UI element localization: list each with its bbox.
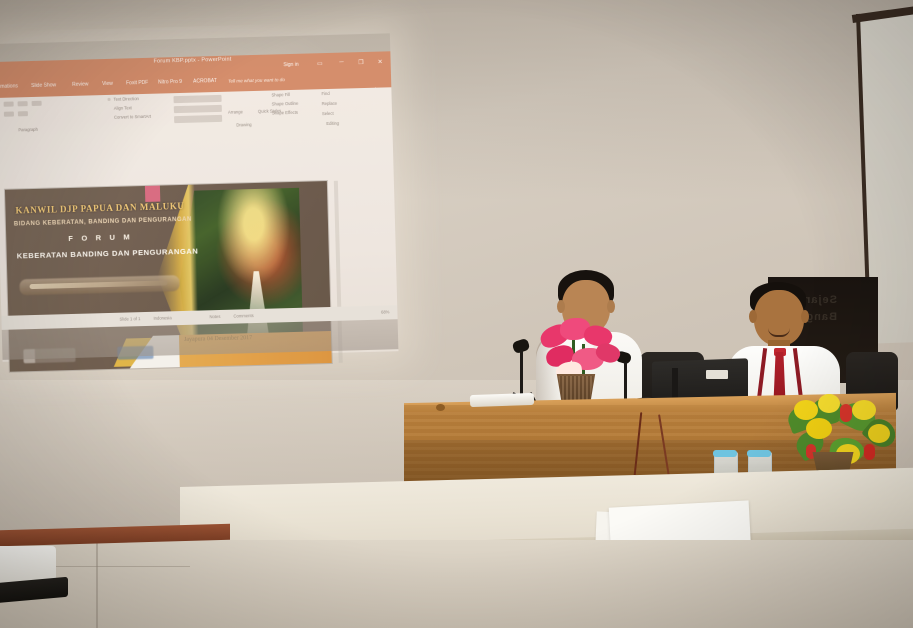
yellow-flower-4: [852, 400, 876, 420]
tab-animations[interactable]: Animations: [0, 83, 18, 90]
slide-forum-word: F O R U M: [68, 232, 133, 243]
tab-nitro-pro[interactable]: Nitro Pro 9: [158, 79, 182, 86]
ribbon-group-editing: Editing: [326, 121, 339, 126]
ribbon-btn-find[interactable]: Find: [321, 91, 329, 96]
shape-gallery-row-2[interactable]: [174, 105, 222, 113]
status-language[interactable]: Indonesia: [153, 315, 171, 320]
ribbon-btn-arrange[interactable]: Arrange: [228, 109, 243, 114]
head-table-knob: [436, 404, 445, 411]
ribbon-display-options-icon[interactable]: ▭: [317, 60, 323, 67]
projected-powerpoint-window: Forum KBP.pptx - PowerPoint Sign in ▭ ─ …: [0, 33, 398, 362]
panelist-ear-right: [801, 310, 809, 323]
yellow-flower-3: [806, 418, 832, 439]
shape-gallery-row-1[interactable]: [173, 95, 221, 103]
tab-foxit-pdf[interactable]: Foxit PDF: [126, 80, 148, 87]
tab-acrobat[interactable]: ACROBAT: [193, 78, 217, 85]
red-bud-1: [840, 404, 852, 422]
laptop-sticker: [706, 370, 728, 379]
panelist-head: [754, 290, 804, 346]
ribbon-btn-replace[interactable]: Replace: [322, 101, 338, 106]
yellow-flower-2: [818, 394, 840, 413]
panelist-ear-left: [749, 310, 757, 323]
sign-in-button[interactable]: Sign in: [283, 62, 298, 68]
status-zoom-level[interactable]: 68%: [381, 309, 390, 314]
speaker-ear-right: [607, 300, 615, 313]
ribbon-btn-shape-outline[interactable]: Shape Outline: [272, 101, 299, 107]
ribbon-btn-text-direction[interactable]: Text Direction: [113, 96, 139, 102]
ribbon-btn-shape-fill[interactable]: Shape Fill: [271, 92, 290, 98]
restore-button[interactable]: ❐: [358, 59, 364, 66]
tab-view[interactable]: View: [102, 81, 113, 87]
ribbon-btn-convert-smartart[interactable]: Convert to SmartArt: [114, 114, 151, 120]
ribbon-btn-line-spacing[interactable]: [4, 111, 14, 116]
ribbon-icon-text-direction[interactable]: [108, 98, 111, 101]
yellow-flower-5: [868, 424, 890, 443]
tiled-floor: [0, 540, 913, 628]
tab-review[interactable]: Review: [72, 81, 89, 87]
floor-tile-line-2: [96, 540, 98, 628]
red-bud-2: [864, 444, 875, 460]
pink-accent-tab: [145, 186, 160, 202]
water-glass-2-lid: [747, 450, 771, 457]
status-notes[interactable]: Notes: [209, 314, 220, 319]
ribbon-btn-align[interactable]: [18, 111, 28, 116]
close-button[interactable]: ✕: [378, 58, 383, 65]
shape-gallery-row-3[interactable]: [174, 115, 222, 123]
ribbon-btn-numbering[interactable]: [18, 101, 28, 106]
speaker-ear-left: [557, 300, 565, 313]
ribbon-btn-select[interactable]: Select: [322, 111, 334, 116]
water-glass-1-lid: [713, 450, 737, 457]
ribbon-group-drawing: Drawing: [236, 122, 252, 127]
ribbon-btn-bullets[interactable]: [4, 101, 14, 106]
rolled-paper: [470, 393, 534, 407]
tab-slide-show[interactable]: Slide Show: [31, 82, 56, 89]
conference-room-photo: SejarahBangun Forum KBP.pptx - PowerPoin…: [0, 0, 913, 628]
minimize-button[interactable]: ─: [339, 60, 343, 66]
ribbon-btn-align-text[interactable]: Align Text: [114, 105, 132, 110]
ribbon-btn-indent[interactable]: [32, 101, 42, 106]
status-comments[interactable]: Comments: [233, 313, 253, 319]
ribbon-btn-shape-effects[interactable]: Shape Effects: [272, 110, 298, 116]
ribbon-group-paragraph: Paragraph: [18, 127, 38, 133]
status-slide-indicator: Slide 1 of 1: [119, 316, 140, 322]
yellow-flower-1: [794, 400, 818, 420]
